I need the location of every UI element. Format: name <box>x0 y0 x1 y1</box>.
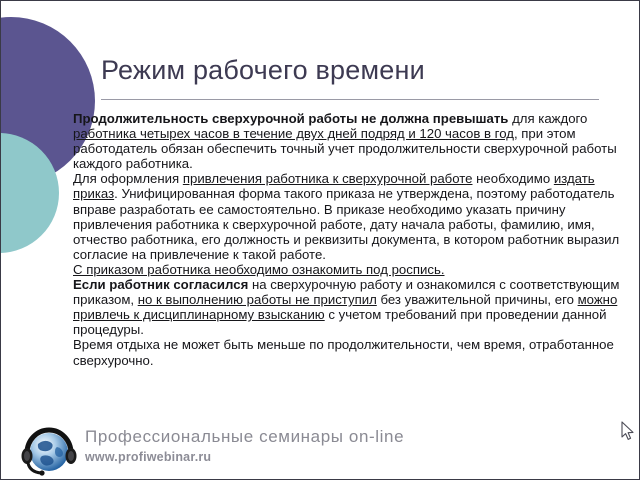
footer-caption: Профессиональные семинары on-line <box>85 427 404 447</box>
slide-title: Режим рабочего времени <box>101 53 601 87</box>
body-paragraph-2: Для оформления привлечения работника к с… <box>73 171 621 262</box>
body-p2-underline-a: привлечения работника к сверхурочной раб… <box>183 171 473 186</box>
body-paragraph-1: Продолжительность сверхурочной работы не… <box>73 111 621 171</box>
title-divider <box>101 99 599 100</box>
body-p3-underline: С приказом работника необходимо ознакоми… <box>73 262 444 277</box>
decorative-circle-teal <box>0 133 59 253</box>
body-paragraph-4: Если работник согласился на сверхурочную… <box>73 277 621 337</box>
body-p1-underline-a: работника четырех часов в течение двух д… <box>73 126 514 141</box>
body-p2-a: Для оформления <box>73 171 183 186</box>
presentation-slide: Режим рабочего времени Продолжительность… <box>0 0 640 480</box>
slide-body: Продолжительность сверхурочной работы не… <box>73 111 621 368</box>
body-p2-b: необходимо <box>472 171 553 186</box>
body-p1-rest-a: для каждого <box>508 111 587 126</box>
globe-headphones-logo <box>18 423 80 477</box>
body-paragraph-5: Время отдыха не может быть меньше по про… <box>73 337 621 367</box>
body-p2-c: . Унифицированная форма такого приказа н… <box>73 186 619 261</box>
body-p4-b: без уважительной причины, его <box>377 292 578 307</box>
body-p4-bold: Если работник согласился <box>73 277 248 292</box>
body-p4-underline-a: но к выполнению работы не приступил <box>138 292 377 307</box>
slide-footer: Профессиональные семинары on-line www.pr… <box>1 417 639 479</box>
footer-url[interactable]: www.profiwebinar.ru <box>85 450 211 465</box>
body-p1-bold: Продолжительность сверхурочной работы не… <box>73 111 508 126</box>
body-paragraph-3: С приказом работника необходимо ознакоми… <box>73 262 621 277</box>
